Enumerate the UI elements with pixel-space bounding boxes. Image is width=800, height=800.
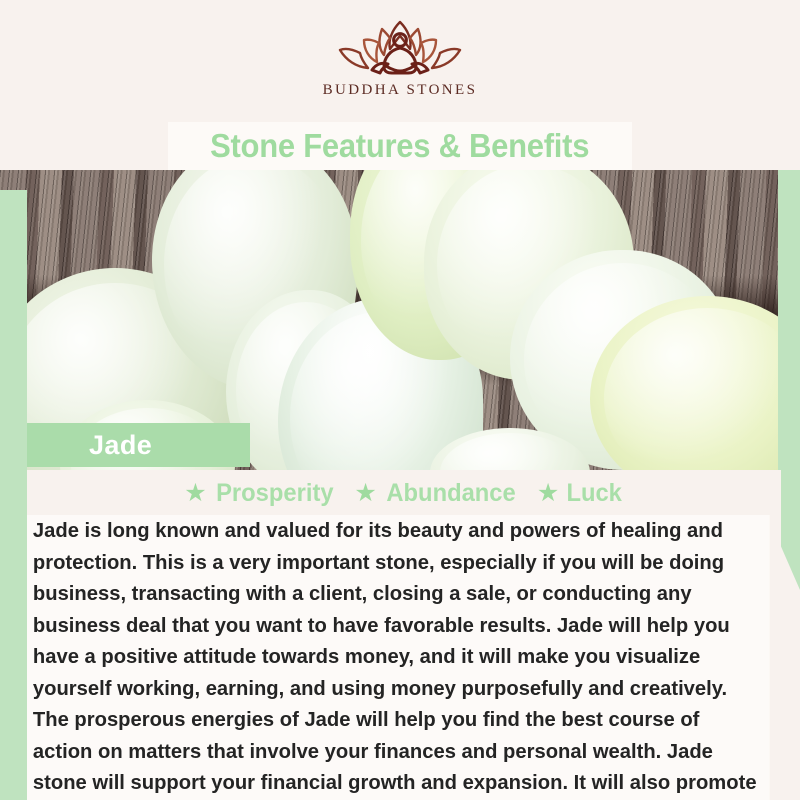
benefit-item-abundance: ★ Abundance xyxy=(354,479,519,508)
benefits-list: ★ Prosperity ★ Abundance ★ Luck xyxy=(27,470,781,512)
stone-name-label: Jade xyxy=(89,430,152,461)
benefit-item-prosperity: ★ Prosperity xyxy=(184,479,336,508)
star-icon: ★ xyxy=(354,481,376,506)
star-icon: ★ xyxy=(184,481,206,506)
stone-description: Jade is long known and valued for its be… xyxy=(27,515,770,800)
decor-left-strip xyxy=(0,190,27,775)
brand-logo: BUDDHA STONES xyxy=(315,18,485,110)
star-icon: ★ xyxy=(537,481,559,506)
benefit-label: Abundance xyxy=(386,479,515,508)
infographic-card: BUDDHA STONES Stone Features & Benefits … xyxy=(0,0,800,800)
page-title: Stone Features & Benefits xyxy=(168,122,632,170)
decor-right-strip xyxy=(778,170,800,590)
benefit-label: Luck xyxy=(567,479,622,508)
content-panel: ★ Prosperity ★ Abundance ★ Luck Jade is … xyxy=(27,470,781,772)
benefit-item-luck: ★ Luck xyxy=(537,479,624,508)
lotus-meditation-icon xyxy=(326,18,474,80)
brand-name: BUDDHA STONES xyxy=(323,82,478,99)
benefit-label: Prosperity xyxy=(216,479,333,508)
stone-name-badge: Jade xyxy=(27,423,250,467)
page-title-text: Stone Features & Benefits xyxy=(210,127,589,165)
